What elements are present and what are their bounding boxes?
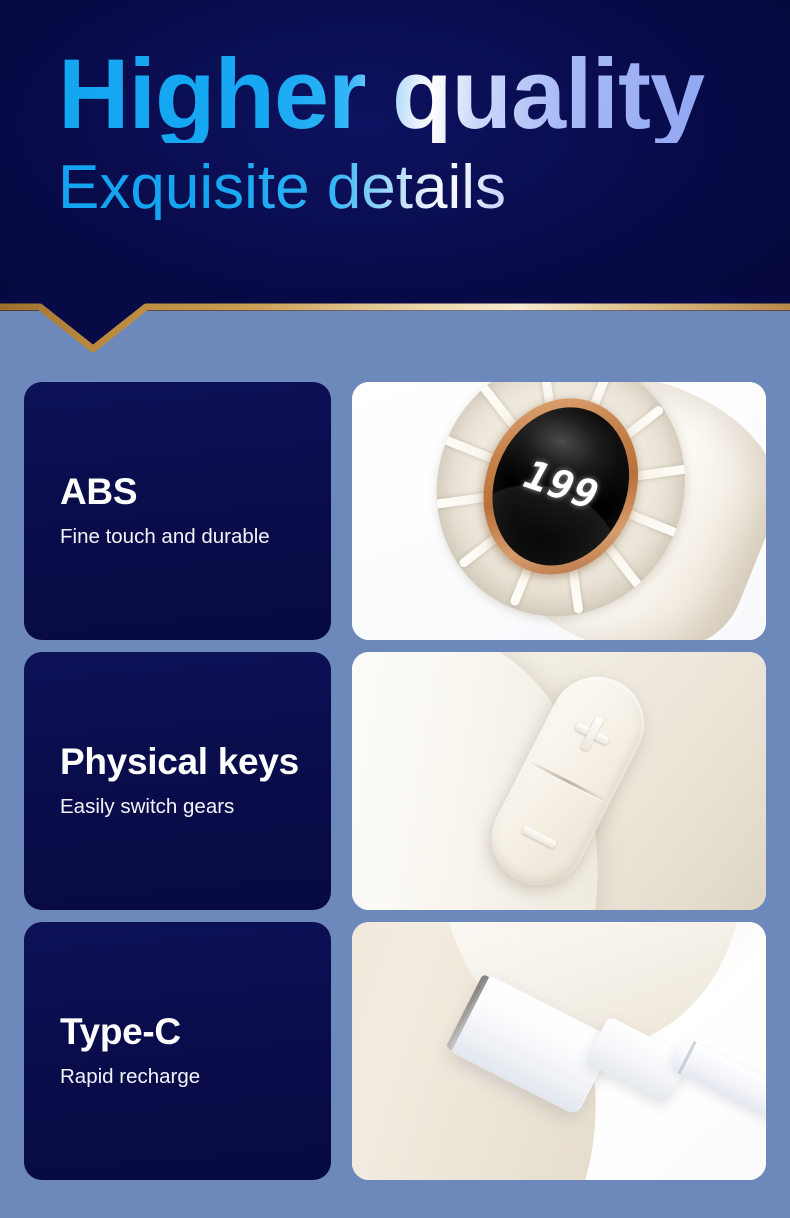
- minus-icon: [522, 825, 558, 848]
- plus-icon: [568, 710, 616, 758]
- feature-title: Physical keys: [60, 742, 331, 783]
- feature-card-abs[interactable]: ABS Fine touch and durable: [24, 382, 331, 640]
- feature-subtitle: Rapid recharge: [60, 1064, 331, 1090]
- feature-photo-physical-keys[interactable]: [352, 652, 766, 910]
- feature-photo-abs[interactable]: 199: [352, 382, 766, 640]
- feature-title: Type-C: [60, 1012, 331, 1053]
- led-display-lens: 199: [469, 387, 652, 587]
- rocker-split-line: [531, 761, 605, 801]
- feature-card-physical-keys[interactable]: Physical keys Easily switch gears: [24, 652, 331, 910]
- feature-row: Physical keys Easily switch gears: [0, 652, 790, 910]
- dryer-body-group: 199: [362, 382, 766, 640]
- type-c-connector-image: [352, 922, 766, 1180]
- header-inner: Higher quality Exquisite details: [0, 0, 790, 311]
- feature-grid: ABS Fine touch and durable: [0, 356, 790, 1218]
- hair-dryer-nozzle-image: 199: [352, 382, 766, 640]
- feature-subtitle: Easily switch gears: [60, 794, 331, 820]
- feature-title: ABS: [60, 472, 331, 513]
- header-text-block: Higher quality Exquisite details: [58, 44, 778, 220]
- page-title: Higher quality: [58, 44, 778, 143]
- feature-photo-type-c[interactable]: [352, 922, 766, 1180]
- led-display-value: 199: [514, 453, 607, 519]
- header-banner: Higher quality Exquisite details: [0, 0, 790, 311]
- feature-row: Type-C Rapid recharge: [0, 922, 790, 1180]
- divider-gold-line: [0, 307, 790, 349]
- feature-subtitle: Fine touch and durable: [60, 524, 331, 550]
- feature-card-type-c[interactable]: Type-C Rapid recharge: [24, 922, 331, 1180]
- cable-cord: [667, 1036, 766, 1125]
- physical-keys-image: [352, 652, 766, 910]
- page-subtitle: Exquisite details: [58, 155, 778, 220]
- feature-row: ABS Fine touch and durable: [0, 382, 790, 640]
